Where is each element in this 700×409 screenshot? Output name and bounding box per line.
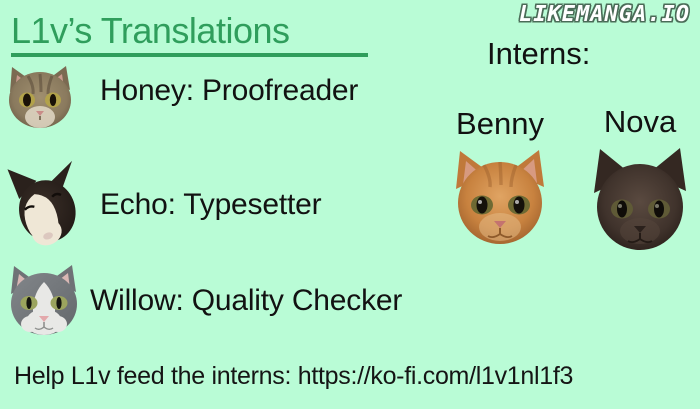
tuxedo-cat-icon [0, 155, 95, 255]
grey-white-cat-icon [0, 260, 88, 348]
page-title-underline [11, 53, 368, 57]
translation-credits-card: L1v’s Translations LIKEMANGA.IO Interns: [0, 0, 700, 409]
staff-label: Willow: Quality Checker [90, 284, 402, 318]
page-title: L1v’s Translations [11, 11, 290, 51]
staff-label: Echo: Typesetter [100, 188, 321, 222]
support-link-text[interactable]: Help L1v feed the interns: https://ko-fi… [14, 362, 573, 391]
intern-name: Nova [580, 106, 700, 137]
black-cat-icon [580, 145, 700, 263]
orange-tabby-cat-icon [430, 145, 570, 257]
intern-card: Benny [430, 108, 570, 257]
staff-label: Honey: Proofreader [100, 74, 358, 108]
intern-card: Nova [580, 106, 700, 263]
brown-tabby-cat-icon [0, 62, 80, 132]
interns-heading: Interns: [487, 36, 590, 72]
intern-name: Benny [430, 108, 570, 139]
site-watermark: LIKEMANGA.IO [519, 2, 690, 27]
